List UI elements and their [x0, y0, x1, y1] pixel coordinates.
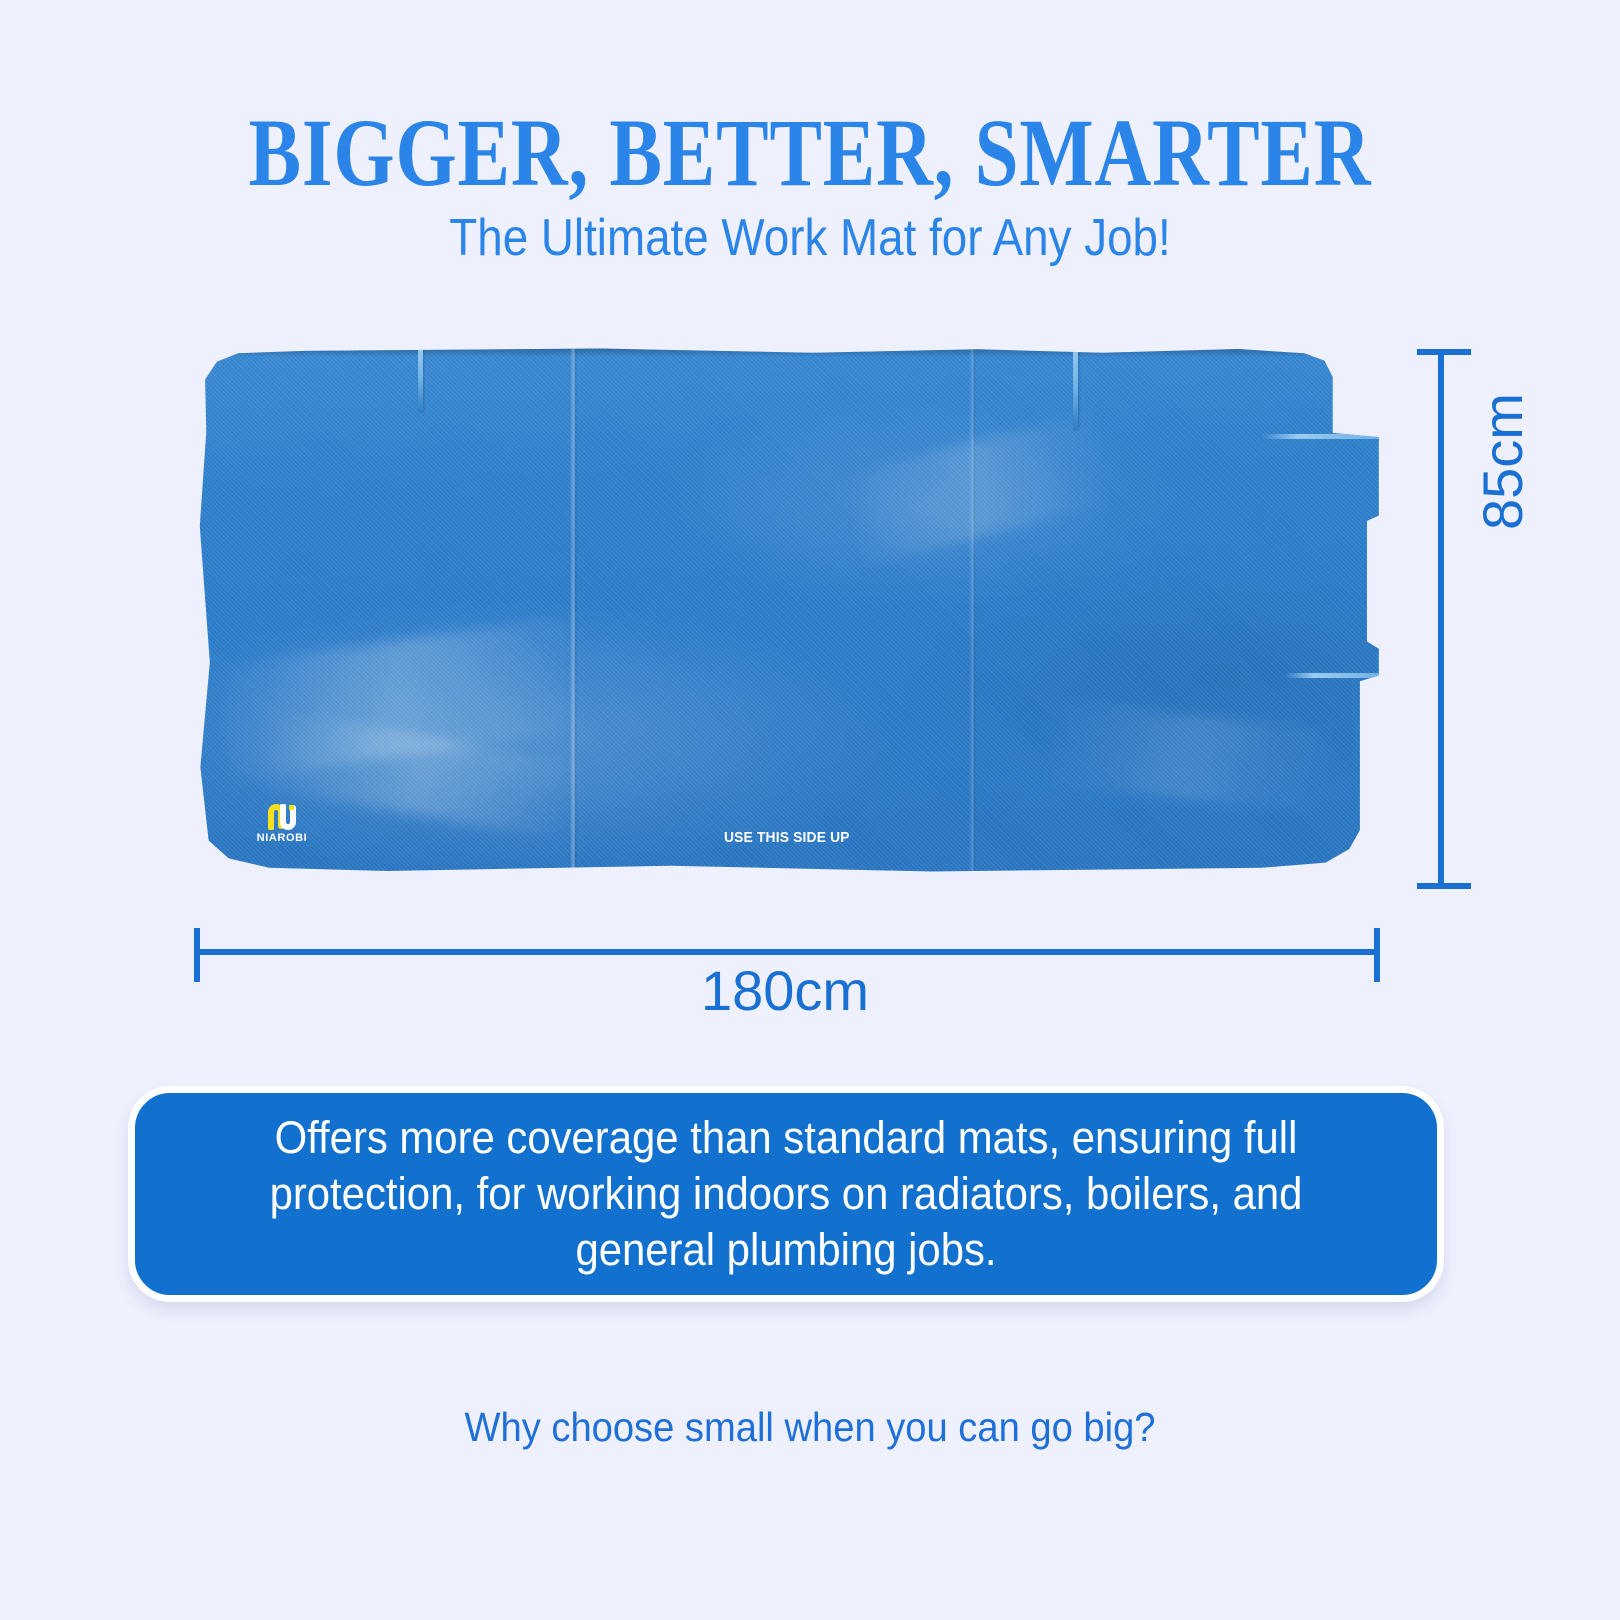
feature-callout-box: Offers more coverage than standard mats,… [128, 1086, 1444, 1302]
mat-top-notch [418, 346, 423, 412]
niarobi-n-monogram-icon [267, 804, 297, 830]
mat-side-tab [1262, 434, 1380, 439]
mat-wrinkle [841, 412, 1116, 566]
dimension-cap-top [1417, 349, 1471, 355]
height-dimension-label: 85cm [1470, 393, 1535, 530]
brand-wordmark: NIAROBI [246, 833, 318, 844]
brand-logo: NIAROBI [246, 804, 318, 844]
mat-side-tab [1285, 673, 1380, 678]
page-subtitle: The Ultimate Work Mat for Any Job! [97, 212, 1523, 264]
mat-fold-crease [570, 348, 577, 872]
width-dimension-line [197, 949, 1377, 955]
mat-wrinkle [1045, 700, 1336, 813]
mat-surface-label: USE THIS SIDE UP [724, 829, 850, 846]
mat-top-edge-shadow [222, 348, 1333, 357]
page-title: BIGGER, BETTER, SMARTER [146, 105, 1474, 201]
feature-callout-text: Offers more coverage than standard mats,… [223, 1110, 1348, 1277]
mat-surface: NIAROBI USE THIS SIDE UP [198, 348, 1380, 872]
infographic-canvas: BIGGER, BETTER, SMARTER The Ultimate Wor… [0, 0, 1620, 1620]
mat-wrinkle [215, 617, 582, 780]
dimension-cap-bottom [1417, 883, 1471, 889]
mat-fabric-texture [198, 348, 1380, 872]
mat-fold-crease [969, 348, 976, 872]
height-dimension-line [1438, 352, 1444, 886]
product-image-work-mat: NIAROBI USE THIS SIDE UP [198, 348, 1380, 872]
mat-top-notch [1073, 344, 1078, 430]
width-dimension-label: 180cm [0, 958, 1570, 1023]
footer-tagline: Why choose small when you can go big? [57, 1404, 1564, 1451]
